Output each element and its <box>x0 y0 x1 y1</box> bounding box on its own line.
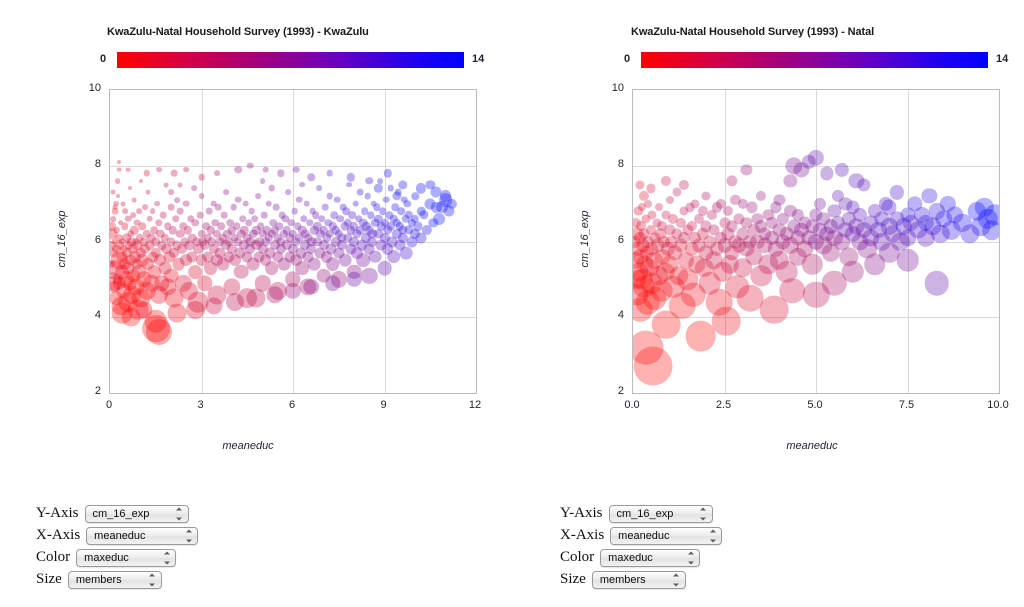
scatter-bubble <box>139 179 143 183</box>
chart-title-natal: KwaZulu-Natal Household Survey (1993) - … <box>631 26 874 38</box>
scatter-bubble <box>109 291 123 305</box>
control-label: X-Axis <box>560 528 604 543</box>
scatter-bubble <box>154 201 160 207</box>
control-label: X-Axis <box>36 528 80 543</box>
scatter-bubble <box>130 212 136 218</box>
scatter-bubble <box>277 170 285 178</box>
scatter-bubble <box>122 208 128 214</box>
scatter-bubble <box>982 220 1000 239</box>
scatter-bubble <box>230 204 237 211</box>
y-tick-label: 4 <box>590 309 624 321</box>
colorbar-natal: 0 14 <box>624 52 1012 68</box>
colorbar-kwazulu: 0 14 <box>100 52 488 68</box>
scatter-bubble <box>834 162 848 176</box>
scatter-bubble <box>262 166 269 173</box>
scatter-bubble <box>383 197 390 204</box>
scatter-bubble <box>385 211 393 219</box>
scatter-bubble <box>192 219 200 227</box>
scatter-bubble <box>922 188 937 203</box>
scatter-bubble <box>234 166 242 174</box>
scatter-bubble <box>111 238 118 245</box>
scatter-bubble <box>746 202 757 213</box>
scatter-bubble <box>117 167 122 172</box>
scatter-bubble <box>202 223 210 231</box>
scatter-bubble <box>255 193 261 199</box>
scatter-bubble <box>131 259 142 270</box>
stepper-arrows-icon[interactable] <box>673 573 680 586</box>
scatter-bubble <box>171 170 178 177</box>
y-tick-label: 8 <box>67 158 101 170</box>
scatter-bubble <box>666 196 674 204</box>
scatter-bubble <box>221 212 228 219</box>
scatter-bubble <box>273 204 280 211</box>
select-color[interactable]: maxeduc <box>76 549 176 567</box>
y-tick-label: 8 <box>590 158 624 170</box>
scatter-bubble <box>304 279 319 294</box>
scatter-bubble <box>411 192 419 200</box>
scatter-bubble <box>374 184 382 192</box>
scatter-bubble <box>679 180 689 190</box>
scatter-bubble <box>214 170 220 176</box>
x-tick-label: 0 <box>84 399 134 411</box>
scatter-bubble <box>340 204 347 211</box>
scatter-bubble <box>820 167 833 180</box>
colorbar-gradient-natal <box>641 52 988 68</box>
stepper-arrows-icon[interactable] <box>185 529 192 542</box>
select-size[interactable]: members <box>592 571 686 589</box>
scatter-bubble <box>672 188 681 197</box>
scatter-bubble <box>398 180 407 189</box>
control-label: Color <box>36 550 70 565</box>
scatter-bubble <box>119 238 126 245</box>
scatter-bubble <box>218 223 226 231</box>
scatter-bubble <box>784 174 797 187</box>
scatter-bubble <box>296 197 303 204</box>
panel-natal: KwaZulu-Natal Household Survey (1993) - … <box>512 0 1024 607</box>
x-tick-label: 10.0 <box>973 399 1023 411</box>
scatter-bubble <box>387 185 394 192</box>
scatter-bubble <box>303 200 310 207</box>
scatter-bubble <box>164 182 169 187</box>
scatter-bubble <box>260 178 266 184</box>
scatter-bubble <box>155 219 163 227</box>
select-value: meaneduc <box>94 530 145 542</box>
select-value: maxeduc <box>608 552 653 564</box>
scatter-bubble <box>395 189 402 196</box>
scatter-bubble <box>309 208 316 215</box>
scatter-bubble <box>128 186 132 190</box>
scatter-bubble <box>337 215 345 223</box>
scatter-bubble <box>661 176 671 186</box>
scatter-bubble <box>174 197 180 203</box>
scatter-bubble <box>115 178 121 184</box>
colorbar-min-label-kwazulu: 0 <box>100 53 106 65</box>
scatter-bubble <box>352 200 359 207</box>
colorbar-max-label-kwazulu: 14 <box>472 53 484 65</box>
select-color[interactable]: maxeduc <box>600 549 700 567</box>
scatter-bubble <box>234 265 249 280</box>
stepper-arrows-icon[interactable] <box>149 573 156 586</box>
scatter-bubble <box>247 162 254 169</box>
controls-natal: Y-Axiscm_16_expX-AxismeaneducColormaxedu… <box>560 503 722 591</box>
scatter-bubble <box>364 193 371 200</box>
scatter-bubble <box>247 289 266 308</box>
scatter-bubble <box>183 167 189 173</box>
scatter-bubble <box>447 199 457 209</box>
scatter-bubble <box>383 169 391 177</box>
x-tick-label: 9 <box>359 399 409 411</box>
scatter-bubble <box>261 212 268 219</box>
scatter-bubble <box>355 215 363 223</box>
scatter-bubble <box>265 200 272 207</box>
scatter-bubble <box>117 160 121 164</box>
scatter-bubble <box>191 186 197 192</box>
scatter-bubble <box>146 215 153 222</box>
scatter-bubble <box>308 173 316 181</box>
stepper-arrows-icon[interactable] <box>700 507 707 520</box>
y-tick-label: 6 <box>67 234 101 246</box>
scatter-bubble <box>322 204 329 211</box>
scatter-bubble <box>168 304 187 323</box>
scatter-bubble <box>279 212 286 219</box>
x-axis-label-natal: meaneduc <box>786 440 837 452</box>
colorbar-gradient-kwazulu <box>117 52 464 68</box>
scatter-bubble <box>118 220 124 226</box>
scatter-bubble <box>178 182 183 187</box>
scatter-bubble <box>726 175 737 186</box>
select-y-axis[interactable]: cm_16_exp <box>85 505 189 523</box>
scatter-bubble <box>235 197 242 204</box>
scatter-bubble <box>116 194 120 198</box>
select-x-axis[interactable]: meaneduc <box>610 527 722 545</box>
scatter-bubble <box>802 155 816 169</box>
x-tick-label: 7.5 <box>882 399 932 411</box>
select-size[interactable]: members <box>68 571 162 589</box>
scatter-bubble <box>111 190 116 195</box>
scatter-bubble <box>127 230 135 238</box>
scatter-bubble <box>179 223 187 231</box>
scatter-bubble <box>636 180 645 189</box>
scatter-plot-kwazulu <box>109 89 477 394</box>
stepper-arrows-icon[interactable] <box>176 507 183 520</box>
scatter-bubble <box>365 177 373 185</box>
scatter-bubble <box>189 265 203 279</box>
scatter-plot-natal <box>632 89 1000 394</box>
scatter-bubble <box>294 223 302 231</box>
scatter-bubble <box>110 216 116 222</box>
scatter-bubble <box>198 174 205 181</box>
scatter-bubble <box>316 186 322 192</box>
stepper-arrows-icon[interactable] <box>709 529 716 542</box>
scatter-bubble <box>156 167 162 173</box>
scatter-bubble <box>113 205 118 210</box>
scatter-bubble <box>146 190 151 195</box>
scatter-bubble <box>306 219 314 227</box>
scatter-bubble <box>723 206 733 216</box>
chart-title-kwazulu: KwaZulu-Natal Household Survey (1993) - … <box>107 26 369 38</box>
y-axis-label-kwazulu: cm_16_exp <box>56 194 68 284</box>
control-row-y-axis: Y-Axiscm_16_exp <box>36 503 198 524</box>
scatter-bubble <box>814 198 826 210</box>
scatter-bubble <box>324 219 332 227</box>
scatter-bubble <box>113 227 120 234</box>
scatter-bubble <box>756 191 766 201</box>
scatter-bubble <box>647 184 656 193</box>
y-tick-label: 10 <box>590 82 624 94</box>
stepper-arrows-icon[interactable] <box>163 551 170 564</box>
scatter-bubble <box>401 197 408 204</box>
colorbar-min-label-natal: 0 <box>624 53 630 65</box>
scatter-bubble <box>109 261 115 268</box>
control-row-color: Colormaxeduc <box>36 547 198 568</box>
scatter-bubble <box>299 182 305 188</box>
dashboard-root: KwaZulu-Natal Household Survey (1993) - … <box>0 0 1024 607</box>
y-tick-label: 4 <box>67 309 101 321</box>
scatter-bubble <box>134 219 141 226</box>
scatter-bubble <box>109 272 117 280</box>
scatter-bubble <box>286 189 292 195</box>
scatter-bubble <box>142 205 148 211</box>
scatter-bubble <box>248 208 255 215</box>
select-value: members <box>600 574 646 586</box>
scatter-bubble <box>924 271 949 296</box>
scatter-bubble <box>361 267 377 283</box>
scatter-bubble <box>347 173 355 181</box>
scatter-bubble <box>276 223 284 231</box>
scatter-bubble <box>257 223 265 231</box>
scatter-bubble <box>685 321 716 352</box>
scatter-bubble <box>223 189 229 195</box>
scatter-bubble <box>233 223 241 231</box>
scatter-bubble <box>268 185 275 192</box>
control-label: Color <box>560 550 594 565</box>
scatter-bubble <box>266 286 283 303</box>
x-tick-label: 12 <box>450 399 500 411</box>
control-row-size: Sizemembers <box>36 569 198 590</box>
scatter-bubble <box>377 178 383 184</box>
scatter-bubble <box>370 200 377 207</box>
colorbar-max-label-natal: 14 <box>996 53 1008 65</box>
x-tick-label: 5.0 <box>790 399 840 411</box>
scatter-bubble <box>398 207 406 215</box>
controls-kwazulu: Y-Axiscm_16_expX-AxismeaneducColormaxedu… <box>36 503 198 591</box>
scatter-bubble <box>357 189 364 196</box>
scatter-bubble <box>251 215 259 223</box>
stepper-arrows-icon[interactable] <box>687 551 694 564</box>
scatter-bubble <box>896 249 919 272</box>
select-value: maxeduc <box>84 552 129 564</box>
x-axis-label-kwazulu: meaneduc <box>222 440 273 452</box>
scatter-bubble <box>132 197 137 202</box>
scatter-bubble <box>774 194 785 205</box>
control-row-x-axis: X-Axismeaneduc <box>36 525 198 546</box>
scatter-bubble <box>197 212 204 219</box>
select-value: cm_16_exp <box>617 508 674 520</box>
scatter-bubble <box>183 200 190 207</box>
y-axis-label-natal: cm_16_exp <box>579 194 591 284</box>
scatter-bubble <box>741 164 752 175</box>
scatter-bubble <box>205 297 222 314</box>
scatter-bubble <box>126 167 131 172</box>
scatter-bubble <box>150 226 158 234</box>
scatter-bubble <box>347 272 362 287</box>
control-row-size: Sizemembers <box>560 569 722 590</box>
scatter-bubble <box>143 170 150 177</box>
scatter-bubble <box>429 218 438 227</box>
scatter-bubble <box>242 200 249 207</box>
y-tick-label: 10 <box>67 82 101 94</box>
control-label: Y-Axis <box>560 506 603 521</box>
scatter-bubble <box>164 223 172 231</box>
x-tick-label: 3 <box>176 399 226 411</box>
scatter-bubble <box>367 211 375 219</box>
y-tick-label: 2 <box>67 385 101 397</box>
scatter-bubble <box>644 200 652 208</box>
scatter-bubble <box>199 193 205 199</box>
select-value: cm_16_exp <box>93 508 150 520</box>
select-y-axis[interactable]: cm_16_exp <box>609 505 713 523</box>
scatter-bubble <box>291 208 298 215</box>
scatter-bubble <box>655 203 663 211</box>
y-tick-label: 6 <box>590 234 624 246</box>
x-tick-label: 6 <box>267 399 317 411</box>
control-row-x-axis: X-Axismeaneduc <box>560 525 722 546</box>
scatter-bubble <box>168 204 175 211</box>
scatter-bubble <box>215 204 222 211</box>
scatter-bubble <box>120 201 125 206</box>
scatter-bubble <box>168 189 174 195</box>
scatter-bubble <box>889 185 903 199</box>
scatter-bubble <box>132 238 140 246</box>
control-row-y-axis: Y-Axiscm_16_exp <box>560 503 722 524</box>
scatter-bubble <box>347 182 353 188</box>
scatter-bubble <box>160 212 167 219</box>
scatter-bubble <box>326 193 333 200</box>
select-value: members <box>76 574 122 586</box>
scatter-bubble <box>857 178 870 191</box>
x-tick-label: 0.0 <box>607 399 657 411</box>
scatter-bubble <box>177 208 184 215</box>
select-value: meaneduc <box>618 530 669 542</box>
select-x-axis[interactable]: meaneduc <box>86 527 198 545</box>
scatter-bubble <box>150 208 156 214</box>
x-tick-label: 2.5 <box>699 399 749 411</box>
control-label: Size <box>560 572 586 587</box>
scatter-bubble <box>136 208 142 214</box>
panel-kwazulu: KwaZulu-Natal Household Survey (1993) - … <box>0 0 512 607</box>
scatter-bubble <box>326 170 333 177</box>
control-row-color: Colormaxeduc <box>560 547 722 568</box>
control-label: Y-Axis <box>36 506 79 521</box>
scatter-bubble <box>172 215 180 223</box>
scatter-bubble <box>334 197 341 204</box>
control-label: Size <box>36 572 62 587</box>
scatter-bubble <box>702 191 711 200</box>
y-tick-label: 2 <box>590 385 624 397</box>
scatter-bubble <box>226 293 244 311</box>
scatter-bubble <box>293 166 300 173</box>
scatter-bubble <box>206 208 213 215</box>
